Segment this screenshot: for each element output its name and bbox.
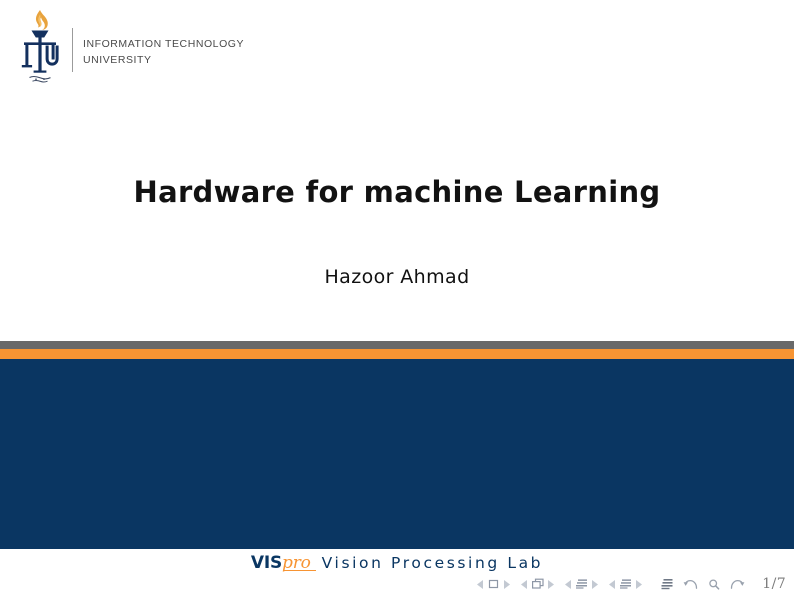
institution-name: INFORMATION TECHNOLOGY UNIVERSITY [83, 36, 244, 69]
title-block: Hardware for machine Learning Hazoor Ahm… [0, 175, 794, 288]
accent-band-navy [0, 359, 794, 549]
magnifier-icon[interactable] [705, 576, 722, 592]
frame-double-square-icon[interactable] [530, 576, 545, 592]
logo-divider [72, 28, 73, 72]
accent-band-orange [0, 349, 794, 359]
triangle-left-icon[interactable] [476, 576, 485, 592]
itu-torch-logo-icon [14, 6, 66, 88]
undo-arrow-icon[interactable] [682, 576, 699, 592]
triangle-right-icon[interactable] [546, 576, 555, 592]
institution-logo-block: INFORMATION TECHNOLOGY UNIVERSITY [14, 6, 414, 90]
page-indicator: 1/7 [762, 576, 786, 592]
institution-name-line2: UNIVERSITY [83, 52, 244, 68]
triangle-left-icon[interactable] [608, 576, 617, 592]
nav-group-section[interactable] [608, 576, 643, 592]
brand-pro-text: pro [282, 553, 313, 573]
triangle-right-icon[interactable] [502, 576, 511, 592]
presentation-author: Hazoor Ahmad [0, 210, 794, 288]
section-lines-icon[interactable] [618, 576, 633, 592]
accent-band-gray [0, 341, 794, 349]
redo-arrow-icon[interactable] [728, 576, 745, 592]
presentation-title: Hardware for machine Learning [0, 175, 794, 210]
nav-group-misc[interactable] [656, 576, 748, 592]
presentation-slide: INFORMATION TECHNOLOGY UNIVERSITY Hardwa… [0, 0, 794, 597]
subsection-lines-icon[interactable] [574, 576, 589, 592]
nav-group-slide[interactable] [476, 576, 511, 592]
brand-lab-name: Vision Processing Lab [313, 554, 543, 572]
triangle-left-icon[interactable] [520, 576, 529, 592]
slide-square-icon[interactable] [486, 576, 501, 592]
triangle-right-icon[interactable] [590, 576, 599, 592]
institution-name-line1: INFORMATION TECHNOLOGY [83, 36, 244, 52]
lab-brand: VISproVision Processing Lab [0, 553, 794, 573]
beamer-navigation-bar[interactable]: 1/7 [476, 574, 786, 594]
brand-vis-text: VIS [251, 553, 282, 573]
nav-group-frame[interactable] [520, 576, 555, 592]
triangle-left-icon[interactable] [564, 576, 573, 592]
document-lines-icon[interactable] [659, 576, 676, 592]
nav-group-subsection[interactable] [564, 576, 599, 592]
triangle-right-icon[interactable] [634, 576, 643, 592]
